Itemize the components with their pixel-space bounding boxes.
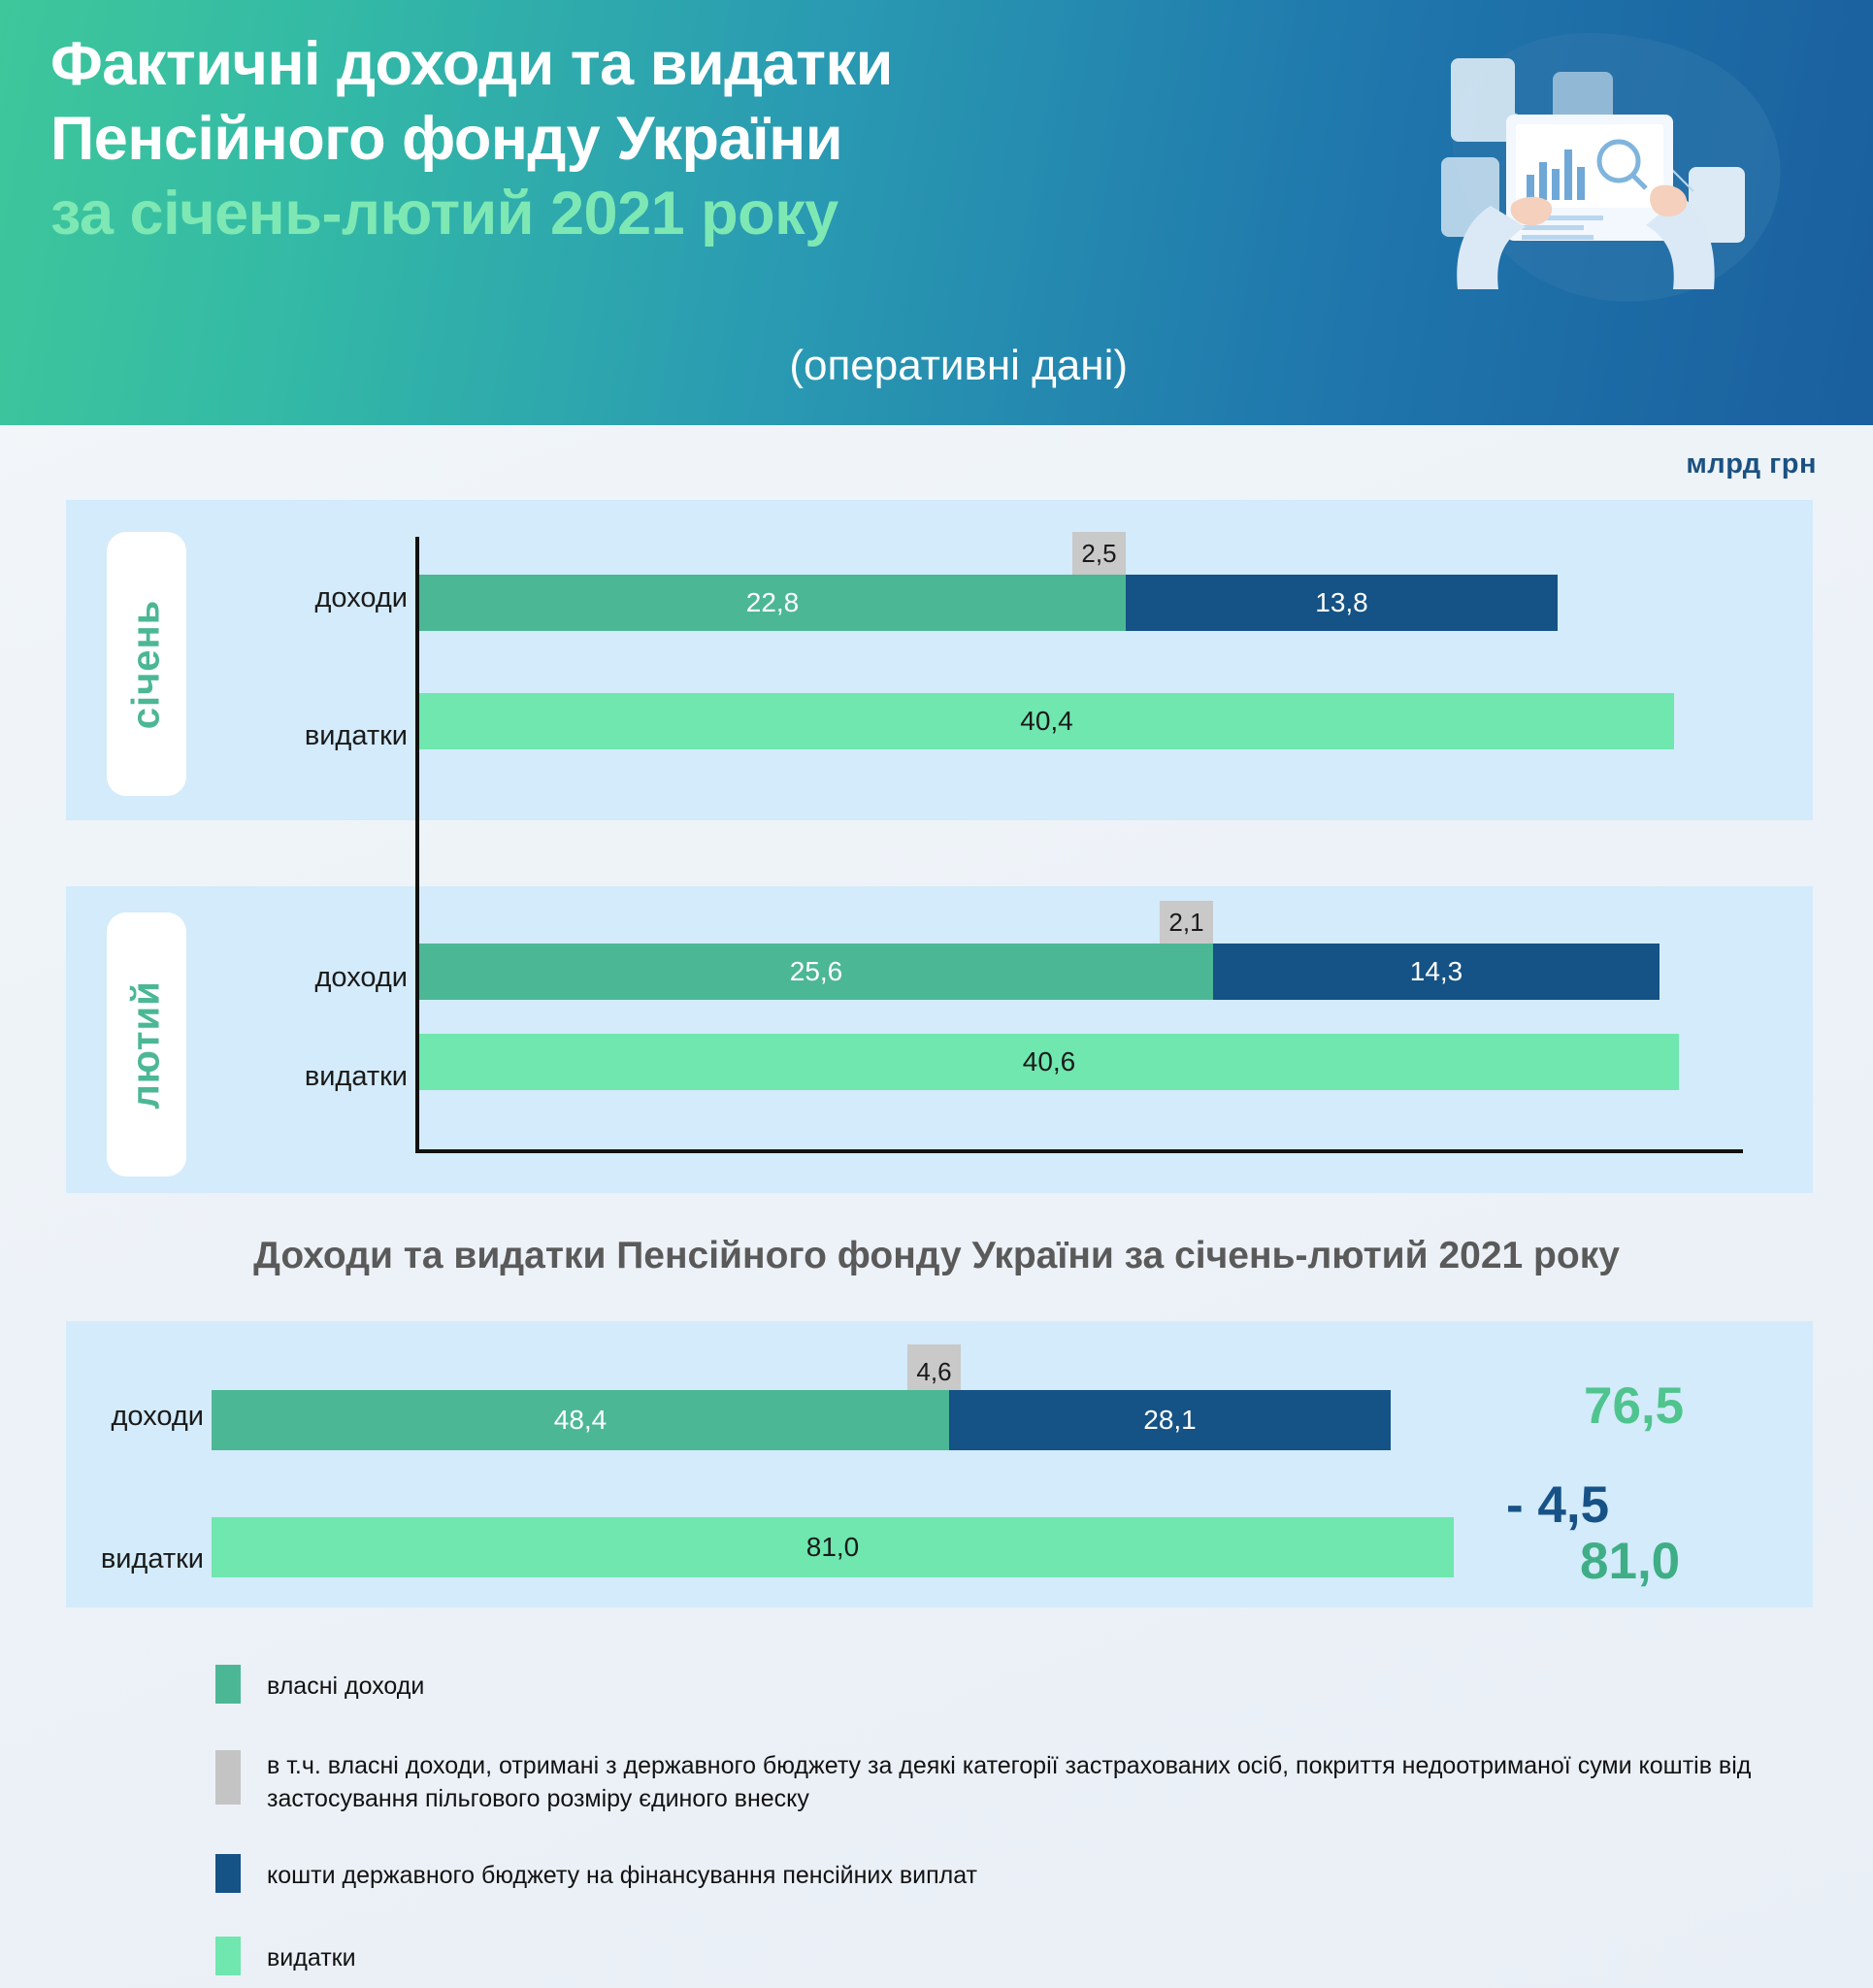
row-label-january-income: доходи [233,582,408,614]
chart-horizontal-axis [415,1149,1743,1153]
bar-january-income-state: 13,8 [1126,575,1558,631]
bar-total-income-state: 28,1 [949,1390,1391,1450]
legend-item-included-from-budget: в т.ч. власні доходи, отримані з державн… [215,1750,1788,1815]
gray-tab-february-value: 2,1 [1168,908,1203,938]
legend-label-own-income: власні доходи [267,1665,424,1704]
legend-swatch-gray-icon [215,1750,241,1805]
summary-balance: - 4,5 [1506,1475,1609,1535]
bar-february-income-state: 14,3 [1213,944,1659,1000]
legend-item-own-income: власні доходи [215,1665,424,1704]
row-label-total-expenses: видатки [0,1543,204,1575]
bar-january-income-own-value: 22,8 [746,587,800,618]
month-panel-january [66,500,1813,820]
bar-january-income-state-value: 13,8 [1315,587,1368,618]
bar-total-expenses: 81,0 [212,1517,1454,1577]
row-label-february-expenses: видатки [233,1061,408,1093]
header-banner: Фактичні доходи та видатки Пенсійного фо… [0,0,1873,425]
title-line-1: Фактичні доходи та видатки [50,27,1351,102]
person-with-tablet-illustration-icon [1397,21,1805,313]
legend-swatch-state-icon [215,1854,241,1893]
bar-total-income-own-value: 48,4 [554,1405,608,1436]
legend-swatch-expenses-icon [215,1937,241,1975]
chart-vertical-axis [415,537,419,1153]
bar-january-expenses: 40,4 [419,693,1674,749]
title-line-2: Пенсійного фонду України [50,102,1351,177]
bar-january-income-own: 22,8 [419,575,1126,631]
gray-tab-february-income: 2,1 [1160,901,1213,944]
legend-item-state-budget: кошти державного бюджету на фінансування… [215,1854,977,1893]
month-tag-january: січень [107,532,186,796]
month-tag-february-label: лютий [125,980,169,1109]
month-tag-january-label: січень [125,599,169,729]
legend-label-included-from-budget: в т.ч. власні доходи, отримані з державн… [267,1750,1788,1815]
bar-february-expenses-value: 40,6 [1023,1046,1076,1077]
units-label: млрд грн [1686,448,1817,480]
row-label-february-income: доходи [233,962,408,994]
total-chart-title: Доходи та видатки Пенсійного фонду Украї… [0,1235,1873,1277]
bar-february-expenses: 40,6 [419,1034,1679,1090]
bar-total-income-own: 48,4 [212,1390,949,1450]
title-line-3: за січень-лютий 2021 року [50,177,1351,251]
legend-label-state-budget: кошти державного бюджету на фінансування… [267,1854,977,1893]
gray-tab-january-income: 2,5 [1072,532,1126,575]
row-label-january-expenses: видатки [233,720,408,752]
bar-february-income-state-value: 14,3 [1410,956,1463,987]
legend-item-expenses: видатки [215,1937,356,1975]
summary-income-total: 76,5 [1584,1376,1684,1436]
row-label-total-income: доходи [0,1401,204,1433]
legend-swatch-own-icon [215,1665,241,1704]
page-title: Фактичні доходи та видатки Пенсійного фо… [50,27,1351,251]
header-subtitle: (оперативні дані) [50,342,1128,390]
gray-tab-january-value: 2,5 [1081,539,1116,569]
bar-january-expenses-value: 40,4 [1020,706,1073,737]
month-tag-february: лютий [107,912,186,1176]
gray-tab-total-value: 4,6 [916,1357,951,1387]
bar-total-income-state-value: 28,1 [1143,1405,1197,1436]
bar-total-expenses-value: 81,0 [806,1532,860,1563]
summary-expenses-total: 81,0 [1580,1532,1680,1591]
legend-label-expenses: видатки [267,1937,356,1975]
bar-february-income-own: 25,6 [419,944,1213,1000]
bar-february-income-own-value: 25,6 [790,956,843,987]
